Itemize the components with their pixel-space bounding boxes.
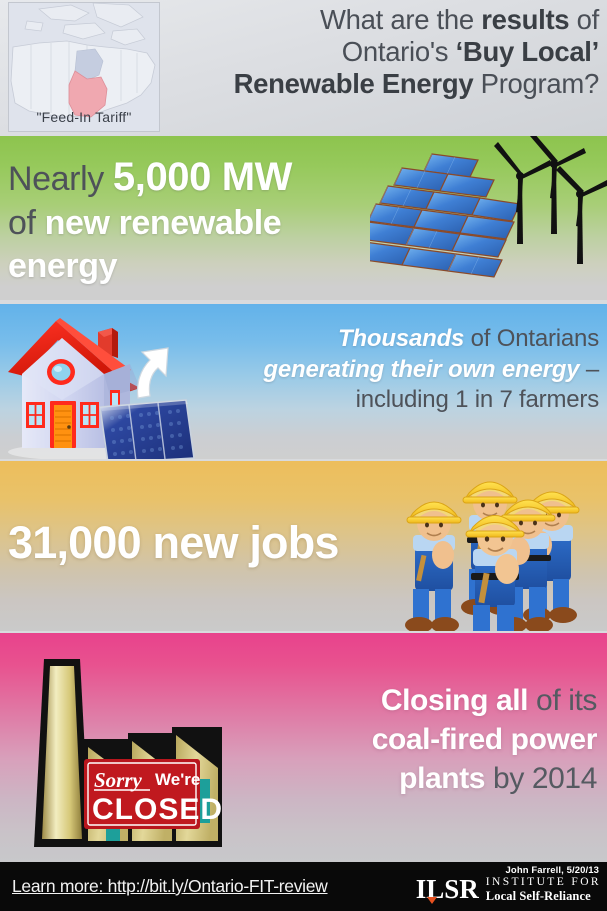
construction-workers-icon: [395, 469, 607, 631]
ilsr-line-1: INSTITUTE FOR: [486, 876, 601, 889]
author-credit: John Farrell, 5/20/13: [506, 865, 599, 876]
ilsr-mark-text: ILSR: [416, 874, 479, 904]
arrow-icon: [138, 348, 169, 398]
solar-panel-icon: [100, 400, 194, 459]
ilsr-line-2: Local Self-Reliance: [486, 889, 601, 903]
sign-closed-text: CLOSED: [92, 793, 223, 826]
ilsr-triangle-icon: [427, 897, 437, 904]
canada-map: "Feed-In Tariff": [8, 2, 160, 132]
band-renewable-capacity-text: Nearly 5,000 MW of new renewable energy: [8, 152, 388, 287]
band-distributed-generation-text: Thousands of Ontarians generating their …: [219, 324, 599, 416]
band-distributed-generation: Thousands of Ontarians generating their …: [0, 304, 607, 459]
band-renewable-capacity: Nearly 5,000 MW of new renewable energy: [0, 136, 607, 300]
learn-more-link[interactable]: Learn more: http://bit.ly/Ontario-FIT-re…: [12, 876, 328, 897]
ilsr-fullname: INSTITUTE FOR Local Self-Reliance: [486, 876, 601, 903]
ilsr-wordmark: ILSR: [416, 876, 479, 903]
infographic-poster: "Feed-In Tariff" What are the results of…: [0, 0, 607, 911]
ilsr-logo: ILSR INSTITUTE FOR Local Self-Reliance: [416, 876, 601, 903]
coal-power-plant-icon: Sorry We're CLOSED: [22, 651, 284, 856]
header: "Feed-In Tariff" What are the results of…: [0, 0, 607, 136]
band-coal-phaseout: Closing all of its coal-fired power plan…: [0, 633, 607, 862]
map-caption: "Feed-In Tariff": [9, 109, 159, 125]
house-icon: [0, 308, 250, 459]
band-jobs: 31,000 new jobs: [0, 461, 607, 631]
sign-sorry-text: Sorry: [94, 768, 143, 792]
footer: Learn more: http://bit.ly/Ontario-FIT-re…: [0, 862, 607, 911]
sign-were-text: We're: [155, 770, 200, 789]
page-title: What are the results of Ontario's ‘Buy L…: [167, 4, 599, 101]
band-jobs-text: 31,000 new jobs: [8, 517, 339, 569]
wind-turbine-icon: [490, 136, 607, 286]
